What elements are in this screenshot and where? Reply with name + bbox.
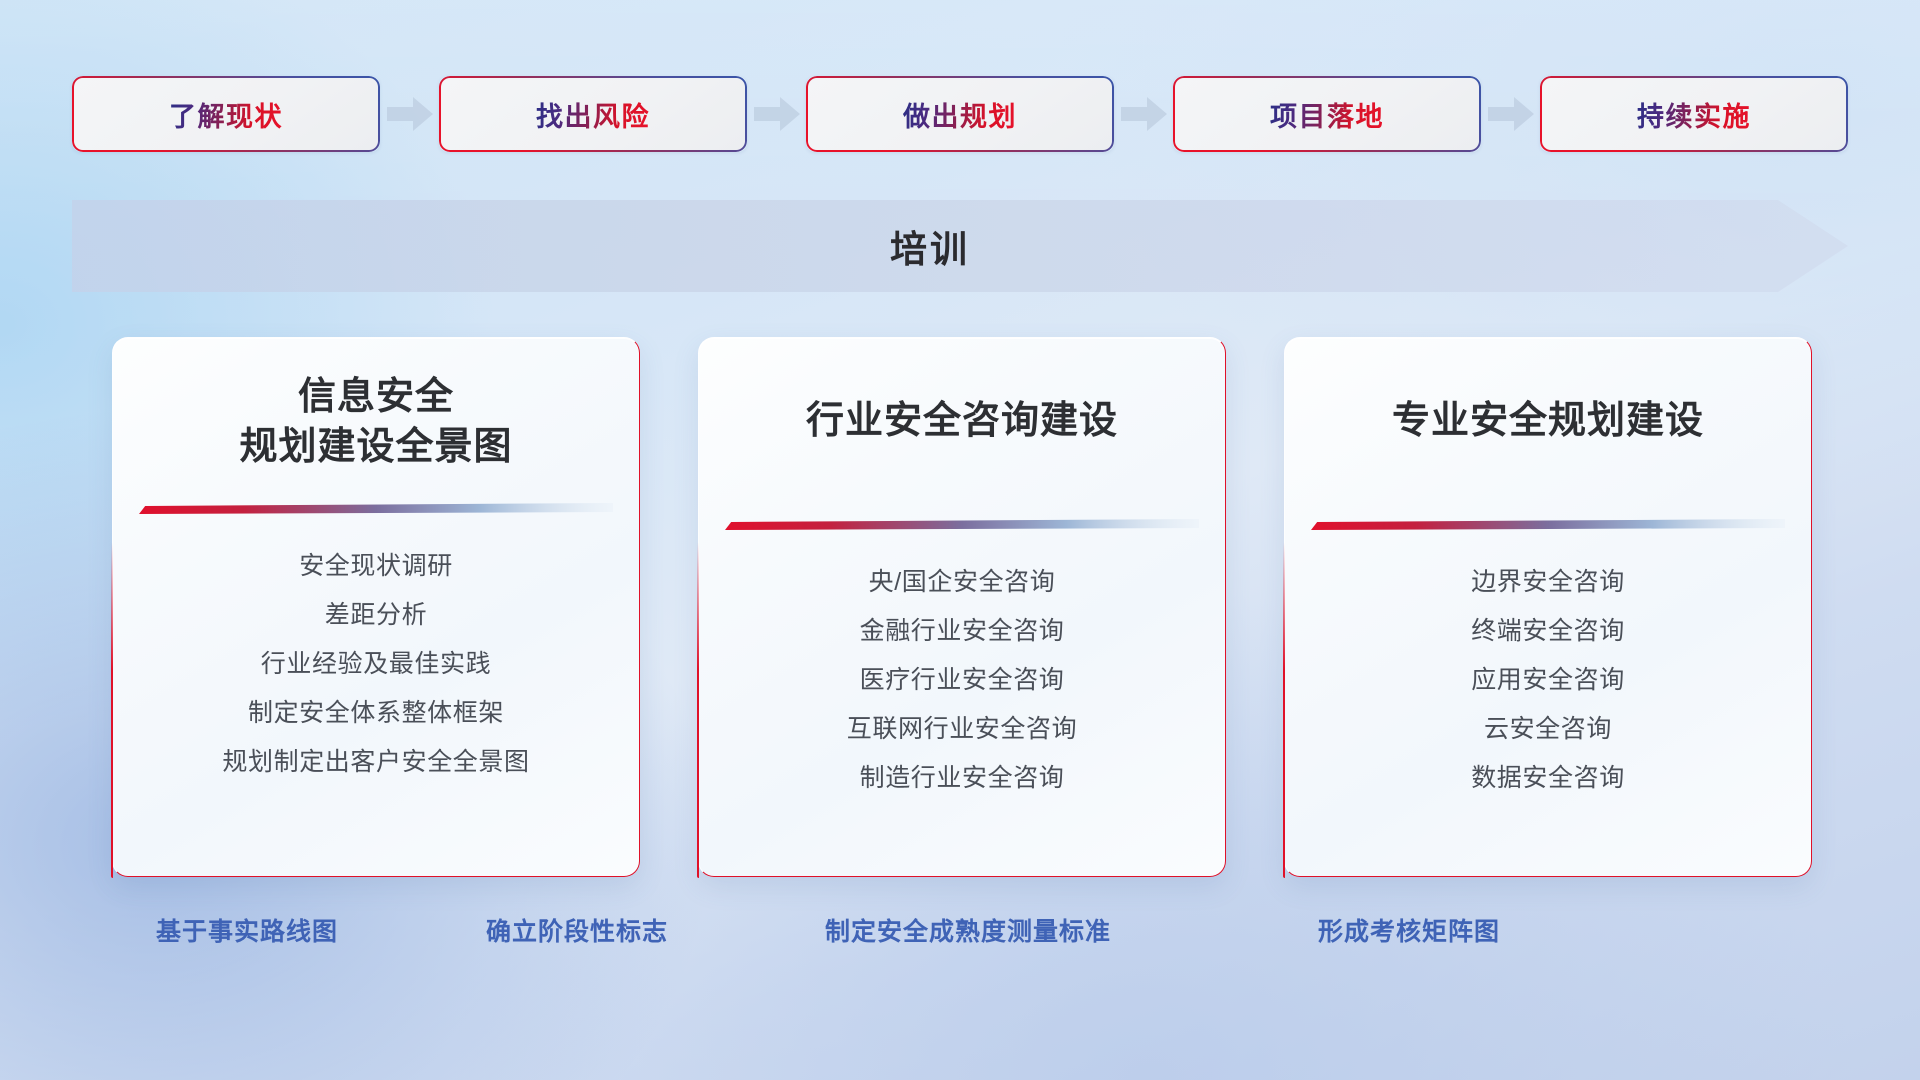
step-label: 了解现状 xyxy=(169,95,283,134)
card-1[interactable]: 信息安全 规划建设全景图 安全现状调研 xyxy=(112,337,640,877)
step-connector-arrow-4 xyxy=(1481,77,1540,151)
step-box-4[interactable]: 项目落地 xyxy=(1173,76,1481,152)
list-item: 边界安全咨询 xyxy=(1311,558,1785,607)
process-step-row: 了解现状 找出风险 做出规划 项目落地 xyxy=(72,77,1848,151)
list-item: 终端安全咨询 xyxy=(1311,607,1785,656)
list-item: 制定安全体系整体框架 xyxy=(139,689,613,738)
list-item: 数据安全咨询 xyxy=(1311,754,1785,803)
footer-label-1: 基于事实路线图 xyxy=(156,912,338,948)
card-divider xyxy=(139,496,613,522)
slide-canvas: 了解现状 找出风险 做出规划 项目落地 xyxy=(0,0,1920,1080)
list-item: 云安全咨询 xyxy=(1311,705,1785,754)
step-connector-arrow-1 xyxy=(380,77,439,151)
list-item: 医疗行业安全咨询 xyxy=(725,656,1199,705)
right-arrow-icon xyxy=(387,97,433,131)
right-arrow-icon xyxy=(1121,97,1167,131)
list-item: 制造行业安全咨询 xyxy=(725,754,1199,803)
step-label: 找出风险 xyxy=(536,95,650,134)
list-item: 央/国企安全咨询 xyxy=(725,558,1199,607)
footer-label-4: 形成考核矩阵图 xyxy=(1318,912,1500,948)
card-title: 信息安全 规划建设全景图 xyxy=(239,372,512,472)
step-box-5[interactable]: 持续实施 xyxy=(1540,76,1848,152)
gradient-divider-icon xyxy=(139,500,613,518)
footer-label-2: 确立阶段性标志 xyxy=(486,912,668,948)
card-2[interactable]: 行业安全咨询建设 央/国企安全咨询 xyxy=(698,337,1226,877)
footer-label-row: 基于事实路线图 确立阶段性标志 制定安全成熟度测量标准 形成考核矩阵图 xyxy=(0,912,1920,956)
card-title: 行业安全咨询建设 xyxy=(806,396,1118,446)
list-item: 应用安全咨询 xyxy=(1311,656,1785,705)
list-item: 安全现状调研 xyxy=(139,542,613,591)
banner-label: 培训 xyxy=(72,219,1848,273)
card-list: 边界安全咨询 终端安全咨询 应用安全咨询 云安全咨询 数据安全咨询 xyxy=(1311,558,1785,803)
footer-label-3: 制定安全成熟度测量标准 xyxy=(825,912,1111,948)
list-item: 规划制定出客户安全全景图 xyxy=(139,738,613,787)
step-label: 持续实施 xyxy=(1637,95,1751,134)
training-banner: 培训 xyxy=(72,200,1848,292)
card-list: 央/国企安全咨询 金融行业安全咨询 医疗行业安全咨询 互联网行业安全咨询 制造行… xyxy=(725,558,1199,803)
card-row: 信息安全 规划建设全景图 安全现状调研 xyxy=(112,337,1812,877)
right-arrow-icon xyxy=(1488,97,1534,131)
step-label: 项目落地 xyxy=(1270,95,1384,134)
step-label: 做出规划 xyxy=(903,95,1017,134)
card-list: 安全现状调研 差距分析 行业经验及最佳实践 制定安全体系整体框架 规划制定出客户… xyxy=(139,542,613,787)
list-item: 金融行业安全咨询 xyxy=(725,607,1199,656)
list-item: 差距分析 xyxy=(139,591,613,640)
step-connector-arrow-3 xyxy=(1114,77,1173,151)
step-box-3[interactable]: 做出规划 xyxy=(806,76,1114,152)
step-box-1[interactable]: 了解现状 xyxy=(72,76,380,152)
right-arrow-icon xyxy=(754,97,800,131)
gradient-divider-icon xyxy=(1311,516,1785,534)
step-box-2[interactable]: 找出风险 xyxy=(439,76,747,152)
list-item: 行业经验及最佳实践 xyxy=(139,640,613,689)
list-item: 互联网行业安全咨询 xyxy=(725,705,1199,754)
card-title: 专业安全规划建设 xyxy=(1392,396,1704,446)
card-3[interactable]: 专业安全规划建设 边界安全咨询 xyxy=(1284,337,1812,877)
card-divider xyxy=(725,512,1199,538)
card-divider xyxy=(1311,512,1785,538)
gradient-divider-icon xyxy=(725,516,1199,534)
step-connector-arrow-2 xyxy=(747,77,806,151)
